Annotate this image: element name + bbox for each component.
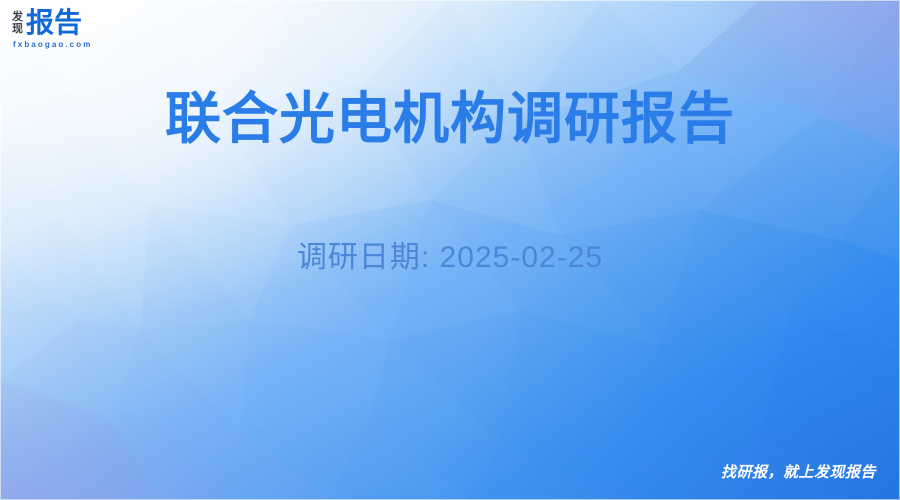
report-cover-slide: 发 现 报告 fxbaogao.com 联合光电机构调研报告 调研日期: 202… bbox=[0, 0, 900, 500]
logo-url-text: fxbaogao.com bbox=[13, 40, 92, 49]
brand-watermark: 找研报，就上发现报告 bbox=[721, 461, 876, 482]
logo-mark-bottom-char: 现 bbox=[12, 24, 23, 35]
survey-date-subtitle: 调研日期: 2025-02-25 bbox=[0, 232, 900, 276]
logo-wordmark: 报告 bbox=[26, 9, 82, 37]
page-title: 联合光电机构调研报告 bbox=[0, 88, 900, 150]
brand-logo[interactable]: 发 现 报告 fxbaogao.com bbox=[12, 9, 92, 49]
logo-mark-stack: 发 现 bbox=[12, 11, 23, 34]
logo-mark-top-char: 发 bbox=[12, 12, 23, 23]
logo-wordmark-row: 发 现 报告 bbox=[12, 9, 82, 37]
